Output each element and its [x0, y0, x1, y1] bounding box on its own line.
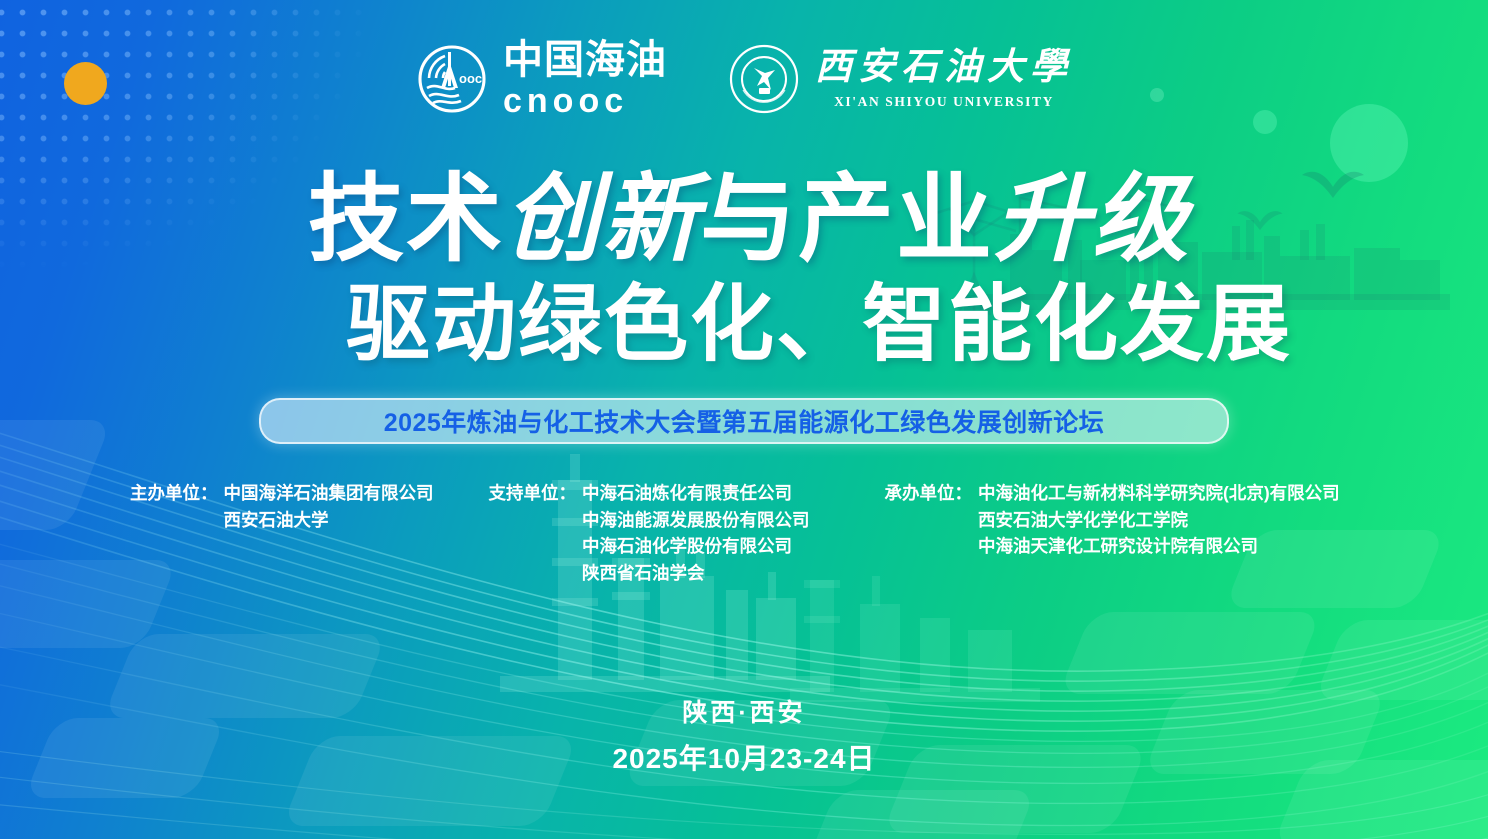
organizer-item: 中海油天津化工研究设计院有限公司	[978, 533, 1340, 560]
organizer-label: 支持单位：	[489, 480, 577, 507]
headline-segment-innovation: 创新	[504, 166, 700, 273]
organizer-column-host: 主办单位： 中国海洋石油集团有限公司 西安石油大学	[130, 480, 434, 533]
event-date: 2025年10月23-24日	[0, 737, 1488, 782]
cnooc-logo: ooc 中国海油 cnooc	[415, 40, 667, 118]
organizer-label: 主办单位：	[130, 480, 218, 507]
subtitle-banner: 2025年炼油与化工技术大会暨第五届能源化工绿色发展创新论坛	[0, 398, 1488, 444]
mosaic-tile	[1314, 620, 1488, 700]
headline-segment-upgrade: 升级	[994, 166, 1190, 273]
subtitle-pill: 2025年炼油与化工技术大会暨第五届能源化工绿色发展创新论坛	[259, 398, 1229, 444]
organizer-item: 中海石油化学股份有限公司	[582, 533, 810, 560]
university-chinese-name: 西安石油大學	[815, 49, 1073, 86]
organizer-list: 中海石油炼化有限责任公司 中海油能源发展股份有限公司 中海石油化学股份有限公司 …	[582, 480, 810, 586]
headline: 技术创新与产业升级 驱动绿色化、智能化发展	[0, 168, 1488, 372]
event-location: 陕西·西安	[0, 695, 1488, 733]
xian-shiyou-university-seal-icon	[727, 42, 801, 116]
organizer-label: 承办单位：	[885, 480, 973, 507]
mosaic-tile	[804, 790, 1036, 839]
conference-banner: ooc 中国海油 cnooc 西安石油大學	[0, 0, 1488, 839]
organizer-list: 中国海洋石油集团有限公司 西安石油大学	[224, 480, 434, 533]
organizer-item: 中海油能源发展股份有限公司	[582, 507, 810, 534]
university-english-name: XI'AN SHIYOU UNIVERSITY	[834, 95, 1054, 109]
subtitle-text: 2025年炼油与化工技术大会暨第五届能源化工绿色发展创新论坛	[384, 403, 1105, 439]
organizer-item: 西安石油大学化学化工学院	[978, 507, 1340, 534]
organizer-column-support: 支持单位： 中海石油炼化有限责任公司 中海油能源发展股份有限公司 中海石油化学股…	[489, 480, 810, 586]
organizations-section: 主办单位： 中国海洋石油集团有限公司 西安石油大学 支持单位： 中海石油炼化有限…	[0, 480, 1488, 586]
cnooc-english-name: cnooc	[503, 84, 628, 118]
svg-text:ooc: ooc	[459, 71, 482, 86]
footer: 陕西·西安 2025年10月23-24日	[0, 695, 1488, 781]
cnooc-chinese-name: 中国海油	[503, 40, 667, 80]
cnooc-logo-icon: ooc	[415, 42, 489, 116]
headline-segment-technology: 技术	[308, 166, 504, 273]
organizer-item: 陕西省石油学会	[582, 560, 810, 587]
organizer-item: 中海油化工与新材料科学研究院(北京)有限公司	[978, 480, 1340, 507]
organizer-item: 西安石油大学	[224, 507, 434, 534]
headline-segment-and-industry: 与产业	[700, 166, 994, 273]
organizer-column-undertaker: 承办单位： 中海油化工与新材料科学研究院(北京)有限公司 西安石油大学化学化工学…	[885, 480, 1340, 560]
mosaic-tile	[1058, 612, 1321, 694]
headline-line-1: 技术创新与产业升级	[0, 168, 1488, 272]
organizer-list: 中海油化工与新材料科学研究院(北京)有限公司 西安石油大学化学化工学院 中海油天…	[978, 480, 1340, 560]
organizer-item: 中国海洋石油集团有限公司	[224, 480, 434, 507]
logo-row: ooc 中国海油 cnooc 西安石油大學	[0, 40, 1488, 118]
organizer-item: 中海石油炼化有限责任公司	[582, 480, 810, 507]
headline-line-2: 驱动绿色化、智能化发展	[0, 276, 1488, 373]
university-logo: 西安石油大學 XI'AN SHIYOU UNIVERSITY	[727, 42, 1073, 116]
